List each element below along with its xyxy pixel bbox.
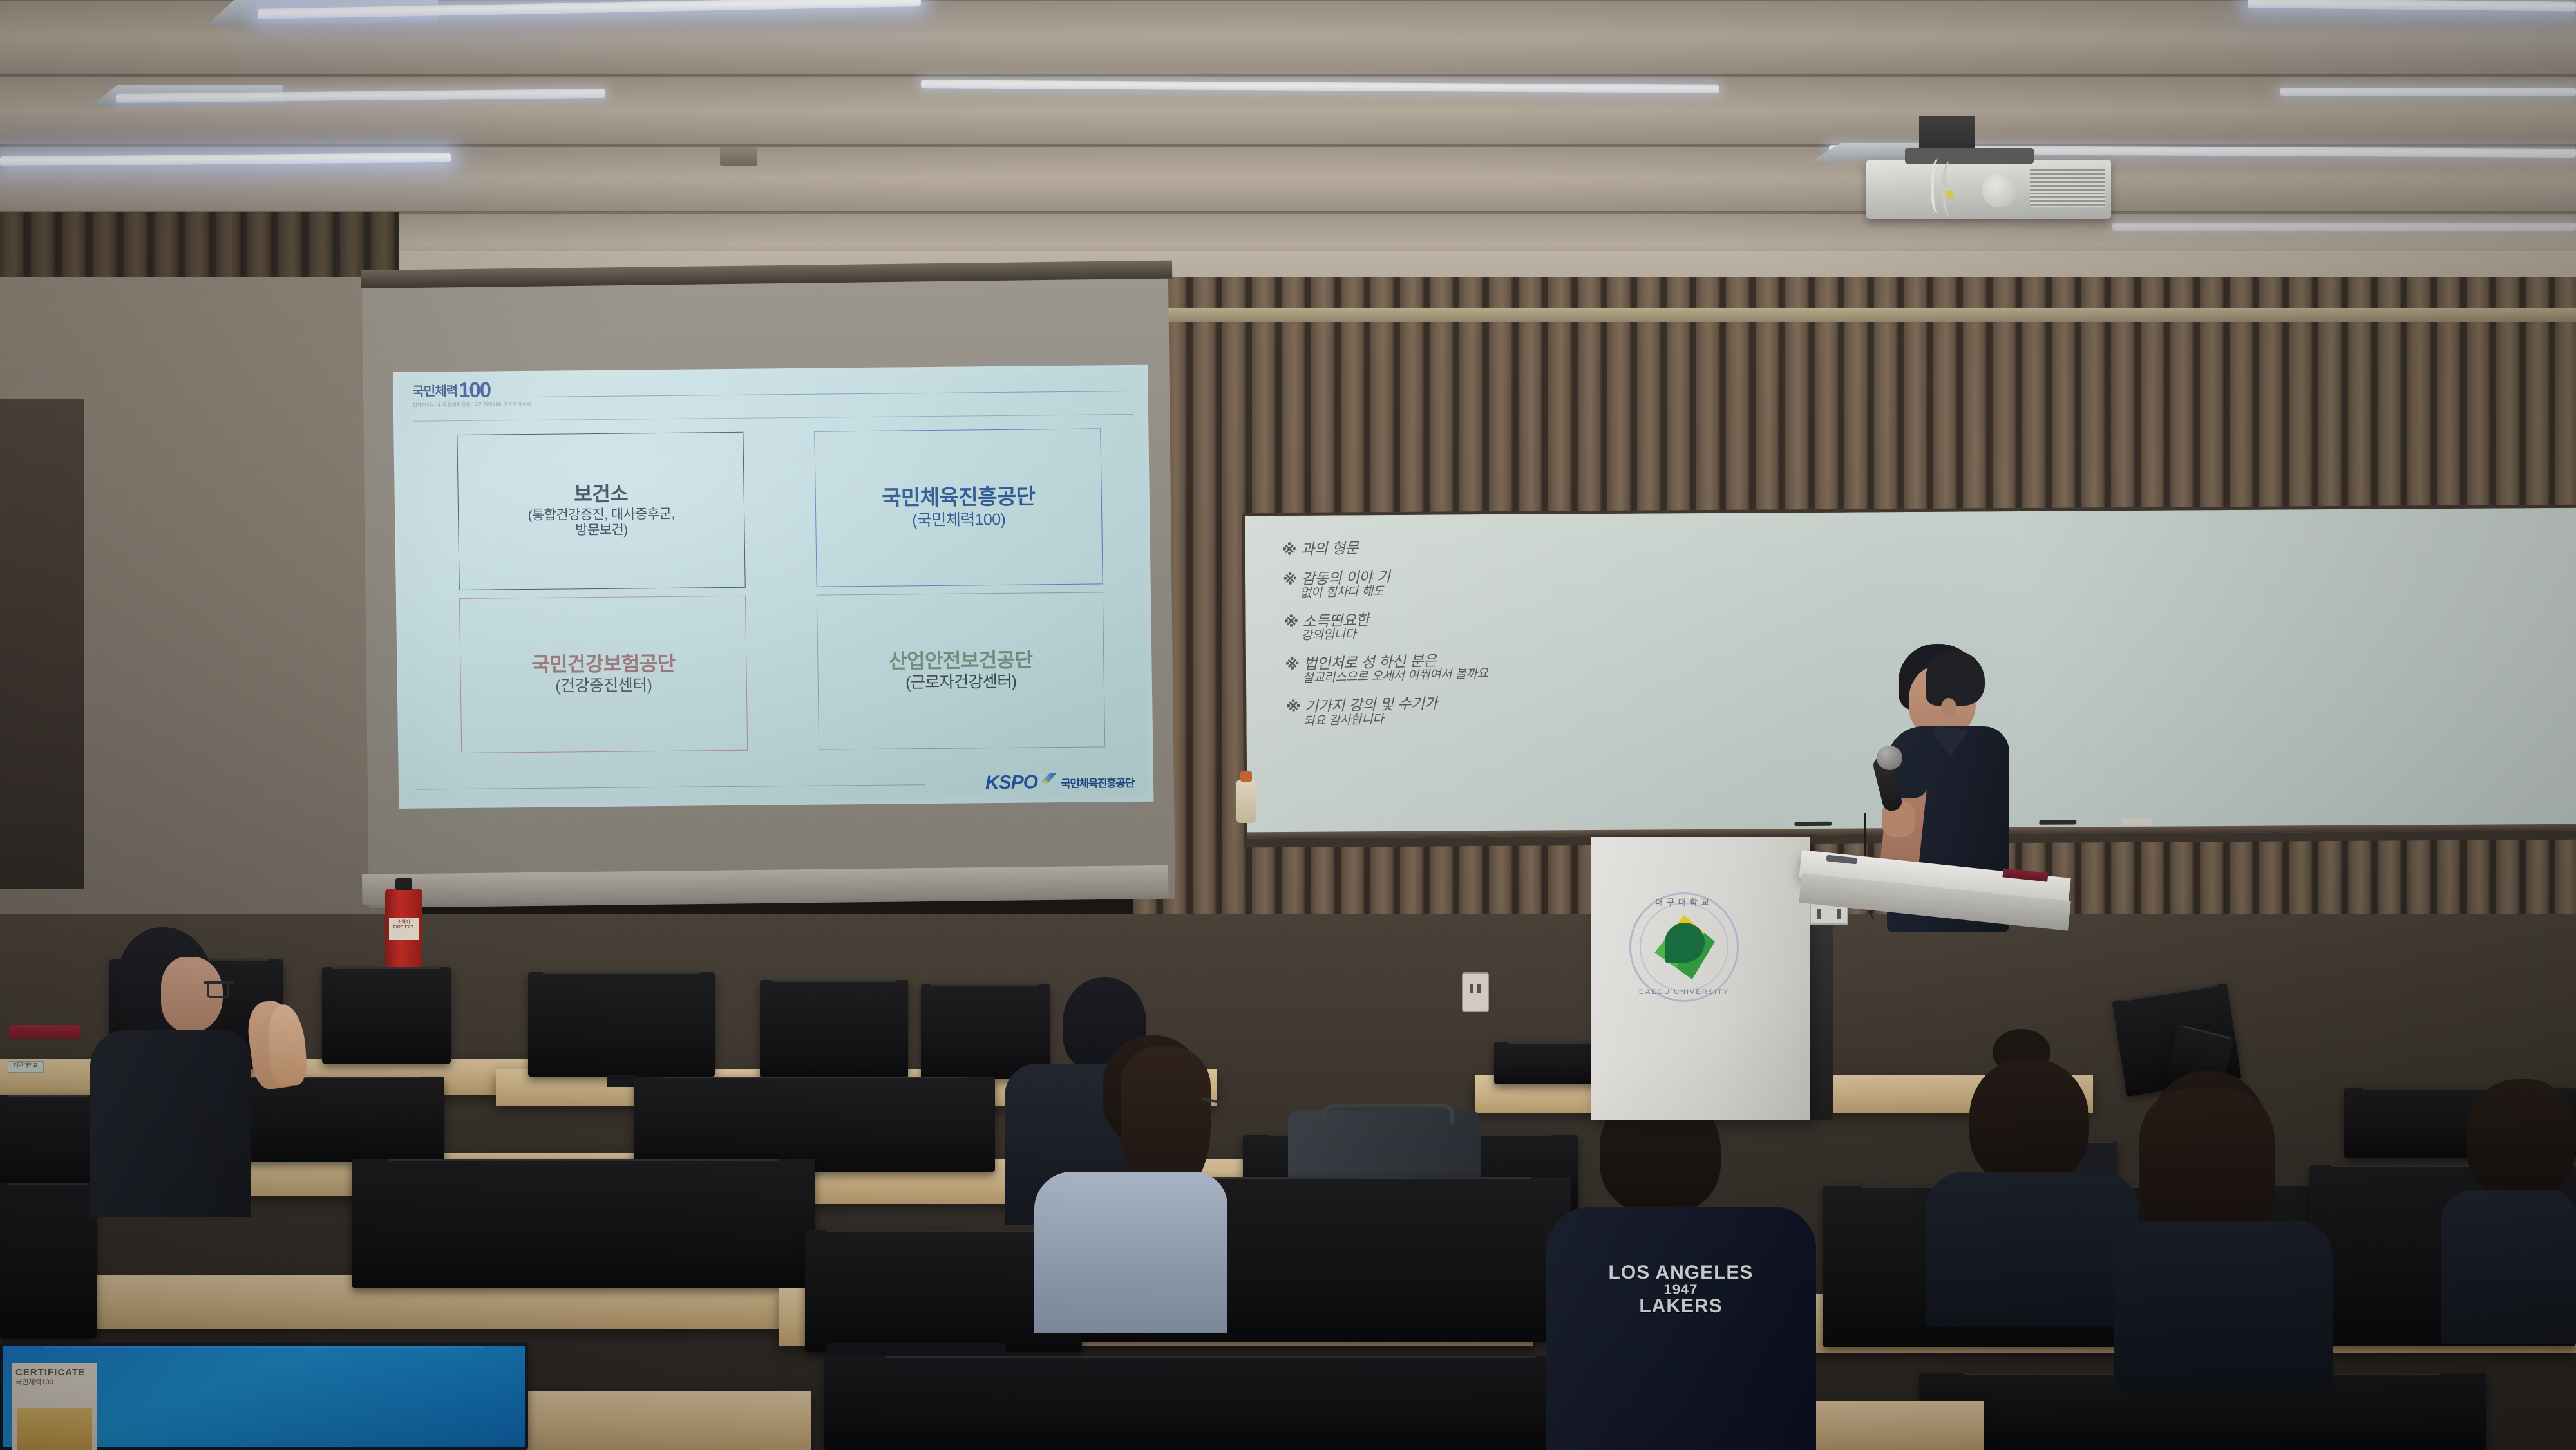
- kspo-swoosh-icon: [1040, 771, 1059, 784]
- header-rule-secondary: [413, 414, 1133, 422]
- monitor[interactable]: [0, 1183, 97, 1338]
- hoodie-line-2: 1947: [1546, 1283, 1816, 1297]
- hoodie-print: LOS ANGELES 1947 LAKERS: [1546, 1263, 1816, 1316]
- note-bullet: ※: [1286, 699, 1301, 717]
- kspo-logo: KSPO 국민체육진흥공단: [985, 771, 1134, 794]
- lecture-hall-photo: 국민체력 100 언제어디서나 국민체력인증, 국민체력100 건강체력측정 보…: [0, 0, 2576, 1450]
- box-subtitle: (건강증진센터): [555, 676, 652, 696]
- slide-box-nhis: 국민건강보험공단 (건강증진센터): [459, 595, 748, 753]
- note-bullet: ※: [1282, 541, 1297, 559]
- desktop-window-card[interactable]: CERTIFICATE 국민체력100: [12, 1363, 97, 1450]
- podium: 대구대학교 DAEGU UNIVERSITY: [1591, 837, 1810, 1120]
- monitor[interactable]: [760, 980, 908, 1078]
- note-text: 과의 형문: [1300, 540, 1358, 558]
- note-subtext: 강의입니다: [1301, 617, 1812, 643]
- slide-footer: KSPO 국민체육진흥공단: [417, 771, 1138, 800]
- slide-box-kspo: 국민체육진흥공단 (국민체력100): [814, 428, 1103, 587]
- student-torso: [1546, 1207, 1816, 1450]
- book-stack[interactable]: [9, 1025, 80, 1039]
- projector-mount-arm: [1905, 148, 2034, 164]
- ceiling-speaker: [720, 147, 757, 166]
- emblem-english-text: DAEGU UNIVERSITY: [1631, 988, 1737, 996]
- monitor-blue-desktop[interactable]: CERTIFICATE 국민체력100: [0, 1343, 528, 1450]
- whiteboard-marker[interactable]: [1794, 822, 1832, 826]
- projector-cable: [1942, 161, 1962, 216]
- desktop-card-text: CERTIFICATE 국민체력100: [12, 1363, 97, 1387]
- box-title: 산업안전보건공단: [889, 648, 1033, 672]
- hoodie-line-3: LAKERS: [1546, 1297, 1816, 1316]
- monitor[interactable]: [322, 967, 451, 1064]
- monitor[interactable]: [352, 1159, 815, 1288]
- student-torso: [90, 1030, 251, 1217]
- slide-box-kosha: 산업안전보건공단 (근로자건강센터): [817, 592, 1105, 750]
- water-bottle[interactable]: [1236, 780, 1256, 823]
- student-head: [1969, 1059, 2089, 1185]
- slide-header: 국민체력 100 언제어디서나 국민체력인증, 국민체력100 건강체력측정: [412, 374, 1133, 421]
- whiteboard-note-line: ※ 법인처로 성 하신 분은 철교리스으로 오세서 여쭤여서 볼까요: [1285, 644, 1814, 686]
- slide-box-grid: 보건소 (통합건강증진, 대사증후군, 방문보건) 국민체육진흥공단 (국민체력…: [457, 428, 1105, 753]
- student-head: [2467, 1079, 2576, 1198]
- student-torso: [2114, 1221, 2333, 1388]
- monitor[interactable]: [0, 1095, 97, 1191]
- whiteboard-marker[interactable]: [2039, 820, 2076, 824]
- monitor[interactable]: [634, 1077, 995, 1172]
- fire-extinguisher-label: 소화기 FIRE EXT.: [389, 918, 419, 940]
- projector-lens-icon: [1982, 173, 2017, 207]
- hoodie-line-1: LOS ANGELES: [1546, 1263, 1816, 1283]
- note-bullet: ※: [1283, 571, 1298, 588]
- logo-number: 100: [459, 381, 490, 400]
- whiteboard-note-line: ※ 소득띤요한 강의입니다: [1284, 601, 1813, 643]
- eyeglasses-frame: [207, 981, 229, 998]
- box-subtitle: (근로자건강센터): [905, 673, 1017, 693]
- whiteboard-handwritten-notes: ※ 과의 형문 ※ 감동의 이야 기 없이 힘차다 해도 ※ 소득띤요한 강의입…: [1282, 529, 1815, 742]
- box-title: 보건소: [574, 483, 628, 506]
- presenter-ear: [1941, 698, 1956, 717]
- wall-power-outlet[interactable]: [1462, 972, 1489, 1012]
- emblem-core-shape: [1665, 923, 1705, 963]
- logo-korean-text: 국민체력: [412, 385, 457, 399]
- box-title: 국민건강보험공단: [531, 652, 676, 676]
- emblem-korean-text: 대구대학교: [1631, 896, 1737, 908]
- student-torso: [2441, 1190, 2576, 1344]
- box-subtitle: (통합건강증진, 대사증후군, 방문보건): [527, 506, 675, 540]
- monitor[interactable]: [528, 972, 715, 1077]
- monitor[interactable]: [824, 1356, 1597, 1450]
- whiteboard-note-line: ※ 기가지 강의 및 수기가 되요 감사합니다: [1286, 686, 1815, 728]
- fire-extinguisher[interactable]: 소화기 FIRE EXT.: [385, 889, 422, 967]
- daegu-university-emblem: 대구대학교 DAEGU UNIVERSITY: [1629, 892, 1739, 1002]
- kspo-wordmark: KSPO: [985, 771, 1038, 794]
- box-subtitle: (국민체력100): [912, 511, 1005, 531]
- desktop-card-image: [17, 1408, 92, 1450]
- microphone-head-icon: [1877, 746, 1902, 770]
- note-bullet: ※: [1285, 657, 1300, 674]
- ceiling-light-9: [2112, 223, 2576, 231]
- whiteboard-note-line: ※ 감동의 이야 기 없이 힘차다 해도: [1283, 559, 1812, 601]
- student-torso: [1034, 1172, 1227, 1333]
- whiteboard-eraser[interactable]: [2123, 818, 2152, 825]
- bottle-cap: [1240, 771, 1252, 782]
- student-torso: [1926, 1172, 2138, 1326]
- footer-rule: [417, 784, 925, 790]
- presentation-slide: 국민체력 100 언제어디서나 국민체력인증, 국민체력100 건강체력측정 보…: [393, 365, 1153, 809]
- desk-nameplate: 대구대학교: [8, 1061, 44, 1073]
- ceiling-projector: [1866, 160, 2111, 219]
- slide-box-health-center: 보건소 (통합건강증진, 대사증후군, 방문보건): [457, 432, 745, 590]
- box-title: 국민체육진흥공단: [882, 485, 1036, 511]
- note-bullet: ※: [1284, 614, 1299, 632]
- projector-vent: [2030, 167, 2105, 207]
- ceiling-light-5: [2280, 88, 2576, 96]
- kspo-org-name: 국민체육진흥공단: [1061, 773, 1134, 790]
- door-frame-left: [0, 399, 84, 889]
